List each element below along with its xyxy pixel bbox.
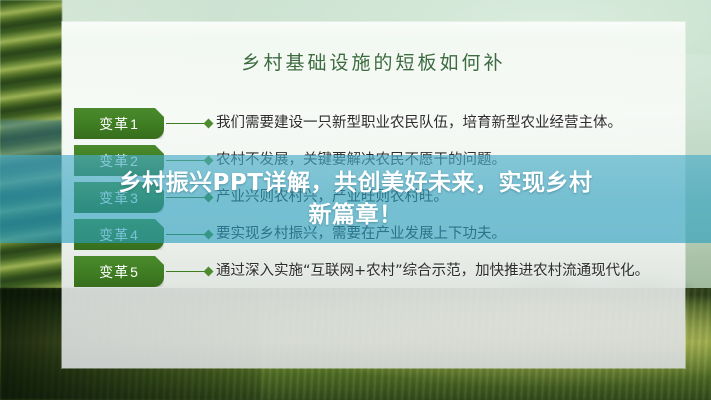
row-connector: [164, 256, 216, 287]
row-text: 通过深入实施“互联网+农村”综合示范，加快推进农村流通现代化。: [216, 259, 685, 284]
slide-title: 乡村基础设施的短板如何补: [62, 48, 685, 75]
row-badge-number: 1: [130, 116, 139, 132]
screenshot-root: 乡村基础设施的短板如何补 变革1 我们需要建设一只新型职业农民队伍，培育新型农业…: [0, 0, 711, 400]
row-badge: 变革1: [74, 108, 164, 139]
caption-overlay-text: 乡村振兴PPT详解，共创美好未来，实现乡村 新篇章！: [0, 155, 711, 243]
caption-line-2: 新篇章！: [309, 199, 403, 231]
row-connector: [164, 108, 216, 139]
row-badge-label: 变革: [99, 262, 129, 282]
slide-row: 变革5 通过深入实施“互联网+农村”综合示范，加快推进农村流通现代化。: [62, 256, 685, 287]
connector-diamond-icon: [204, 267, 214, 277]
connector-line-icon: [166, 123, 206, 124]
slide-top-highlight: [62, 22, 685, 38]
row-badge-label: 变革: [99, 114, 129, 134]
connector-line-icon: [166, 271, 206, 272]
row-badge: 变革5: [74, 256, 164, 287]
caption-line-1: 乡村振兴PPT详解，共创美好未来，实现乡村: [119, 167, 593, 199]
row-badge-number: 5: [130, 264, 139, 280]
connector-diamond-icon: [204, 119, 214, 129]
slide-row: 变革1 我们需要建设一只新型职业农民队伍，培育新型农业经营主体。: [62, 108, 685, 139]
row-text: 我们需要建设一只新型职业农民队伍，培育新型农业经营主体。: [216, 111, 685, 136]
